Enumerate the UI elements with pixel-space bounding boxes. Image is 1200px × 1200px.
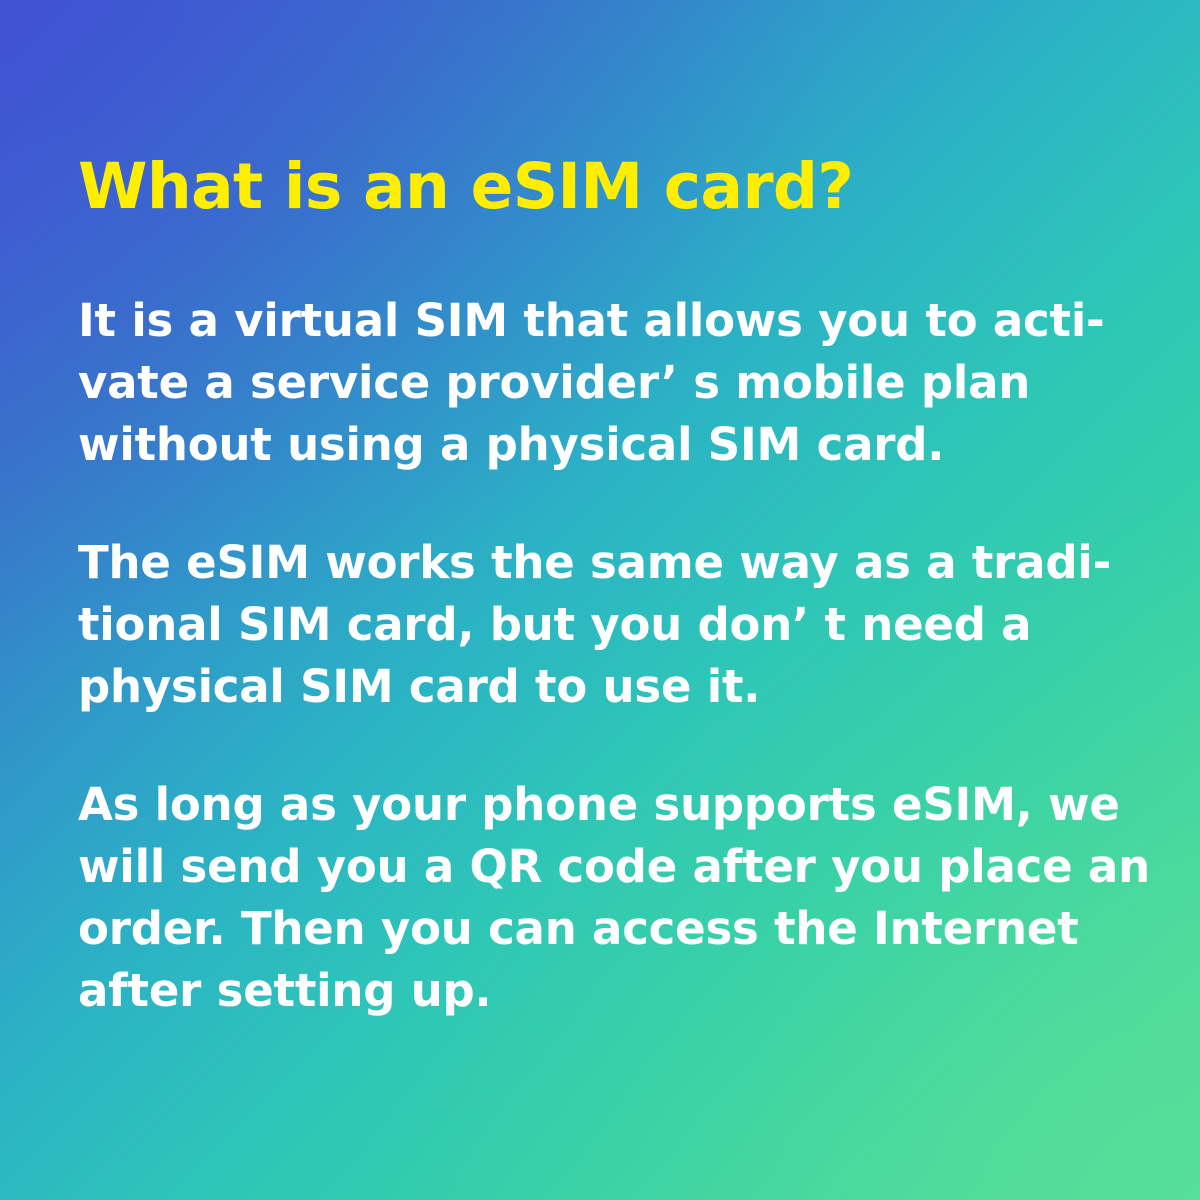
text-line: without using a physical SIM card. [78,414,1078,476]
text-line: will send you a QR code after you place … [78,836,1078,898]
paragraph-definition: It is a virtual SIM that allows you to a… [78,290,1078,476]
body-copy: It is a virtual SIM that allows you to a… [78,290,1078,1022]
paragraph-delivery: As long as your phone supports eSIM, we … [78,774,1078,1022]
text-line: The eSIM works the same way as a tradi- [78,532,1078,594]
text-line: vate a service provider’ s mobile plan [78,352,1078,414]
page-title: What is an eSIM card? [78,152,853,223]
text-line: tional SIM card, but you don’ t need a [78,594,1078,656]
content-stack: What is an eSIM card? It is a virtual SI… [78,0,1078,1200]
text-line: physical SIM card to use it. [78,656,1078,718]
text-line: It is a virtual SIM that allows you to a… [78,290,1078,352]
esim-info-graphic: What is an eSIM card? It is a virtual SI… [0,0,1200,1200]
paragraph-how-it-works: The eSIM works the same way as a tradi- … [78,532,1078,718]
text-line: As long as your phone supports eSIM, we [78,774,1078,836]
text-line: order. Then you can access the Internet [78,898,1078,960]
text-line: after setting up. [78,960,1078,1022]
